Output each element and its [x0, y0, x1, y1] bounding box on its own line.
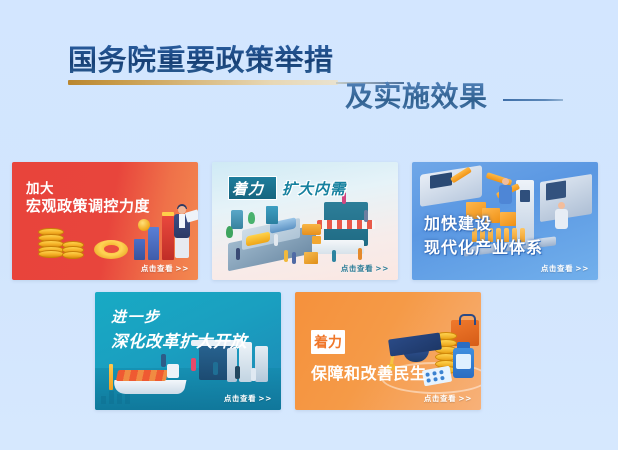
card-title-line2: 扩大内需 [282, 178, 346, 199]
cta-arrows-icon: >> [258, 394, 272, 403]
dock-worker-2 [191, 358, 196, 371]
pedestrian-7 [332, 250, 336, 262]
gold-ring-hole [104, 245, 119, 253]
crate-3 [500, 212, 516, 226]
cargo-ship-bridge [167, 364, 179, 378]
card-title-line2: 深化改革扩大开放 [111, 328, 247, 352]
poster-page: 国务院重要政策举措 及实施效果 [0, 0, 618, 450]
blue-divider-right [503, 99, 563, 101]
page-title-secondary: 及实施效果 [345, 80, 488, 114]
card-cta-link[interactable]: 点击查看>> [141, 263, 189, 274]
card-expand-demand[interactable]: 着力 扩大内需 点击查看>> [212, 162, 398, 280]
cta-label: 点击查看 [141, 264, 173, 273]
card-title-line2: 保障和改善民生 [311, 360, 427, 384]
cta-label: 点击查看 [541, 264, 573, 273]
bar-chart-bar-3 [162, 216, 174, 260]
machine-right-screen [546, 180, 566, 200]
parcel-box-2 [312, 236, 321, 244]
cards-row-2: 进一步 深化改革扩大开放 点击查看>> [95, 292, 523, 410]
dock-worker-3 [213, 362, 218, 375]
card-title-line1: 加快建设 [424, 210, 492, 234]
factory-worker-1-head [502, 178, 509, 185]
card-cta-link[interactable]: 点击查看>> [424, 393, 472, 404]
cta-arrows-icon: >> [458, 394, 472, 403]
coin-stack-large-icon [38, 228, 64, 258]
factory-worker-2-body [555, 209, 568, 229]
card-title-line2: 现代化产业体系 [424, 234, 543, 258]
cards-row-1: 加大 宏观政策调控力度 点击查看>> [12, 162, 606, 280]
cta-label: 点击查看 [224, 394, 256, 403]
tree-icon-1 [248, 212, 255, 224]
cta-arrows-icon: >> [175, 264, 189, 273]
cta-arrows-icon: >> [575, 264, 589, 273]
card-macro-policy[interactable]: 加大 宏观政策调控力度 点击查看>> [12, 162, 198, 280]
page-header: 国务院重要政策举措 及实施效果 [0, 44, 618, 129]
cta-arrows-icon: >> [375, 264, 389, 273]
businessman-shirt [179, 214, 185, 228]
dock-worker-5 [251, 368, 256, 381]
pedestrian-3 [284, 250, 288, 262]
gold-coin-icon [138, 219, 150, 231]
street-sign-icon [231, 210, 243, 229]
coin-stack-small-icon [62, 241, 84, 259]
tree-icon-2 [226, 226, 233, 238]
pedestrian-6 [364, 210, 368, 222]
card-modern-industry[interactable]: 加快建设 现代化产业体系 点击查看>> [412, 162, 598, 280]
medicine-bottle-label [456, 354, 471, 369]
card-title-line2: 宏观政策调控力度 [26, 195, 150, 216]
gold-divider [68, 80, 338, 85]
yellow-marker-pole [109, 364, 113, 390]
pedestrian-2 [274, 234, 278, 246]
pedestrian-4 [292, 252, 296, 264]
cta-label: 点击查看 [424, 394, 456, 403]
card-cta-link[interactable]: 点击查看>> [341, 263, 389, 274]
bar-chart-bar-2 [148, 227, 159, 260]
card-title-line1-badges: 着力 [311, 330, 345, 354]
cargo-ship-hull [112, 380, 187, 394]
bar-chart-bar-1 [134, 239, 145, 260]
cta-label: 点击查看 [341, 264, 373, 273]
factory-worker-1-body [499, 185, 512, 204]
dock-worker-1 [161, 354, 166, 367]
bar-chart-bar-3-cap [162, 212, 174, 216]
parcel-box-1 [304, 252, 318, 264]
control-tower-screen [520, 190, 530, 202]
briefcase-handle [459, 314, 476, 325]
card-cta-link[interactable]: 点击查看>> [541, 263, 589, 274]
title-line1-container: 国务院重要政策举措 [68, 44, 538, 84]
card-reform-opening[interactable]: 进一步 深化改革扩大开放 点击查看>> [95, 292, 281, 410]
gate-structure-2 [255, 346, 268, 382]
kiosk-icon [266, 206, 278, 224]
title-badge-char-1-text: 着力 [314, 335, 342, 351]
cargo-ship-containers [116, 370, 168, 381]
pedestrian-8 [358, 248, 362, 260]
title-badge-char-1: 着力 [311, 330, 345, 354]
businessman-legs [175, 236, 189, 258]
card-title-line1: 加大 [26, 177, 54, 197]
page-title-primary: 国务院重要政策举措 [68, 44, 334, 76]
card-peoples-livelihood[interactable]: 着力 保障和改善民生 点击查看>> [295, 292, 481, 410]
card-title-line1: 着力 [232, 178, 264, 199]
card-cta-link[interactable]: 点击查看>> [224, 393, 272, 404]
graduation-cap-board [388, 332, 442, 356]
factory-worker-2-head [558, 202, 565, 209]
businessman-document [185, 209, 198, 222]
delivery-truck-icon [302, 224, 321, 235]
dock-worker-4 [235, 366, 240, 379]
card-title-line1: 进一步 [111, 306, 161, 327]
pedestrian-1 [236, 248, 240, 260]
